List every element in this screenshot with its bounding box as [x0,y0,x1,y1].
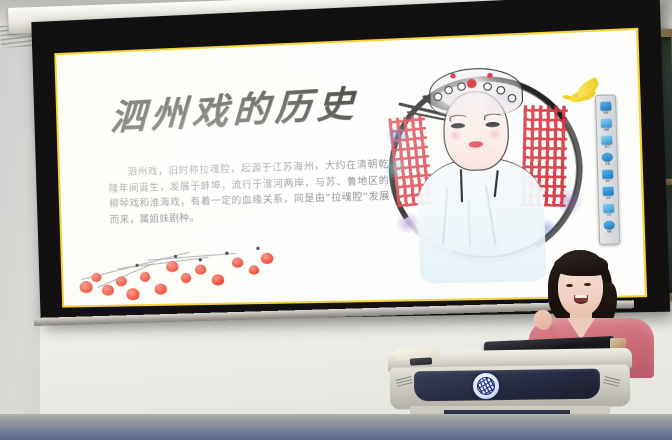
ink-splash [555,189,585,215]
toolbar-label: 拍照 [607,230,612,234]
settings-icon [602,153,613,162]
toolbar-item-monitor[interactable]: 屏幕 [597,114,616,132]
toolbar-item-settings[interactable]: 设置 [598,148,617,166]
plum-blossom-branch [76,233,304,301]
seal-emblem-icon [477,377,495,395]
presenter-eye [566,284,573,287]
toolbar-item-blank[interactable]: 空白 [599,199,618,217]
presenter-fringe [554,254,608,276]
slide-title: 泗州戏的历史 [109,74,360,141]
grid-icon [603,187,614,196]
page-icon [602,170,613,179]
toolbar-item-grid[interactable]: 菜单 [598,182,617,200]
toolbar-item-camera[interactable]: 拍照 [599,216,618,234]
toolbar-item-window[interactable]: 窗口 [597,131,616,149]
pen-icon [600,102,611,111]
projector-overlay-toolbar[interactable]: 画笔 屏幕 窗口 设置 翻页 菜单 空白 拍照 [595,94,620,245]
monitor-icon [601,119,612,128]
window-icon [601,136,612,145]
presenter-eye [584,283,591,286]
slide-body-text: 泗州戏，旧时称拉魂腔，起源于江苏海州，大约在清朝乾隆年间诞生，发展于蚌埠，流行于… [108,157,390,228]
presenter-teeth [575,295,587,298]
blank-icon [603,204,614,213]
toolbar-item-pen[interactable]: 画笔 [596,97,615,115]
classroom-scene: 泗州戏的历史 泗州戏，旧时称拉魂腔，起源于江苏海州，大约在清朝乾隆年间诞生，发展… [0,0,672,440]
remote-control[interactable] [410,357,432,365]
toolbar-item-page[interactable]: 翻页 [598,165,617,183]
performer-headdress [429,66,524,117]
camera-icon [604,221,615,230]
floor [0,428,672,440]
lectern-front-panel [414,369,600,402]
